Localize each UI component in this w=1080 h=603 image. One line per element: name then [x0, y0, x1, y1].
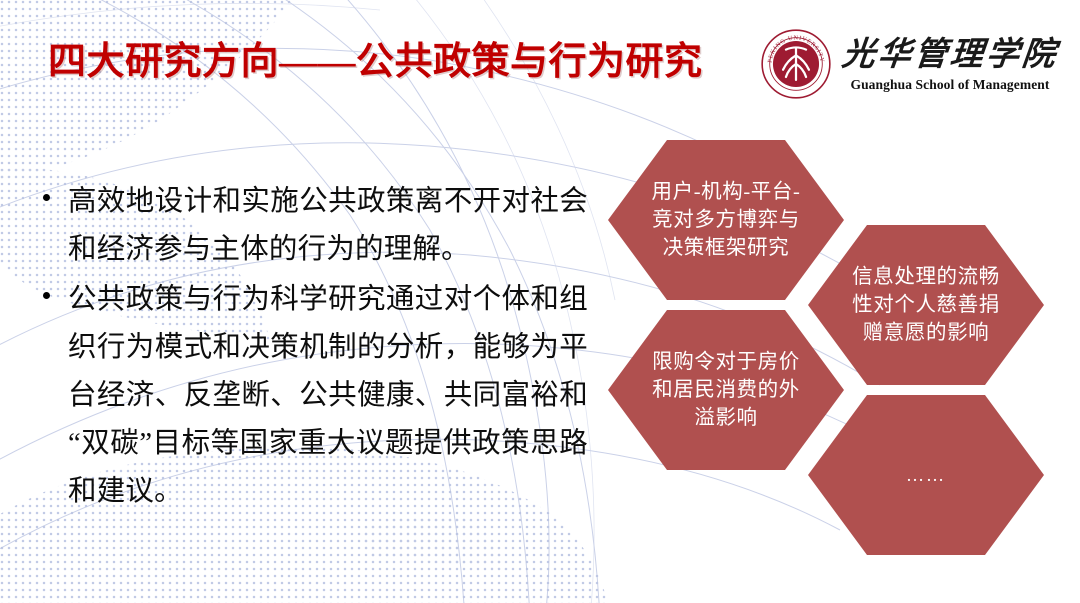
bullet-list: 高效地设计和实施公共政策离不开对社会和经济参与主体的行为的理解。 公共政策与行为… [36, 178, 588, 518]
hexagon-cluster: 用户-机构-平台-竞对多方博弈与决策框架研究 信息处理的流畅性对个人慈善捐赠意愿… [600, 130, 1070, 570]
hexagon-label: …… [851, 461, 1001, 489]
hexagon-topic-2[interactable]: 信息处理的流畅性对个人慈善捐赠意愿的影响 [808, 225, 1044, 385]
hexagon-label: 限购令对于房价和居民消费的外溢影响 [651, 348, 801, 432]
page-title: 四大研究方向——公共政策与行为研究 [48, 36, 668, 88]
peking-university-seal-icon: PEKING UNIVERSITY 1898 [760, 28, 832, 100]
slide-canvas: 四大研究方向——公共政策与行为研究 PEKING UNIVERSITY 1898 [0, 0, 1080, 603]
hexagon-label: 用户-机构-平台-竞对多方博弈与决策框架研究 [651, 178, 801, 262]
hexagon-topic-1[interactable]: 用户-机构-平台-竞对多方博弈与决策框架研究 [608, 140, 844, 300]
page-title-block: 四大研究方向——公共政策与行为研究 [48, 36, 668, 88]
bullet-dot-icon [43, 292, 50, 299]
list-item: 高效地设计和实施公共政策离不开对社会和经济参与主体的行为的理解。 [36, 178, 588, 274]
logo-name-cn: 光华管理学院 [840, 35, 1060, 75]
hexagon-topic-3[interactable]: 限购令对于房价和居民消费的外溢影响 [608, 310, 844, 470]
institution-logo: PEKING UNIVERSITY 1898 光华管理学院 Guanghua S… [760, 28, 1058, 100]
bullet-text: 高效地设计和实施公共政策离不开对社会和经济参与主体的行为的理解。 [68, 178, 588, 274]
logo-name-en: Guanghua School of Management [850, 76, 1049, 93]
bullet-dot-icon [43, 194, 50, 201]
bullet-text: 公共政策与行为科学研究通过对个体和组织行为模式和决策机制的分析，能够为平台经济、… [68, 276, 588, 516]
logo-wordmark: 光华管理学院 Guanghua School of Management [842, 35, 1058, 93]
hexagon-label: 信息处理的流畅性对个人慈善捐赠意愿的影响 [851, 263, 1001, 347]
hexagon-topic-4[interactable]: …… [808, 395, 1044, 555]
list-item: 公共政策与行为科学研究通过对个体和组织行为模式和决策机制的分析，能够为平台经济、… [36, 276, 588, 516]
